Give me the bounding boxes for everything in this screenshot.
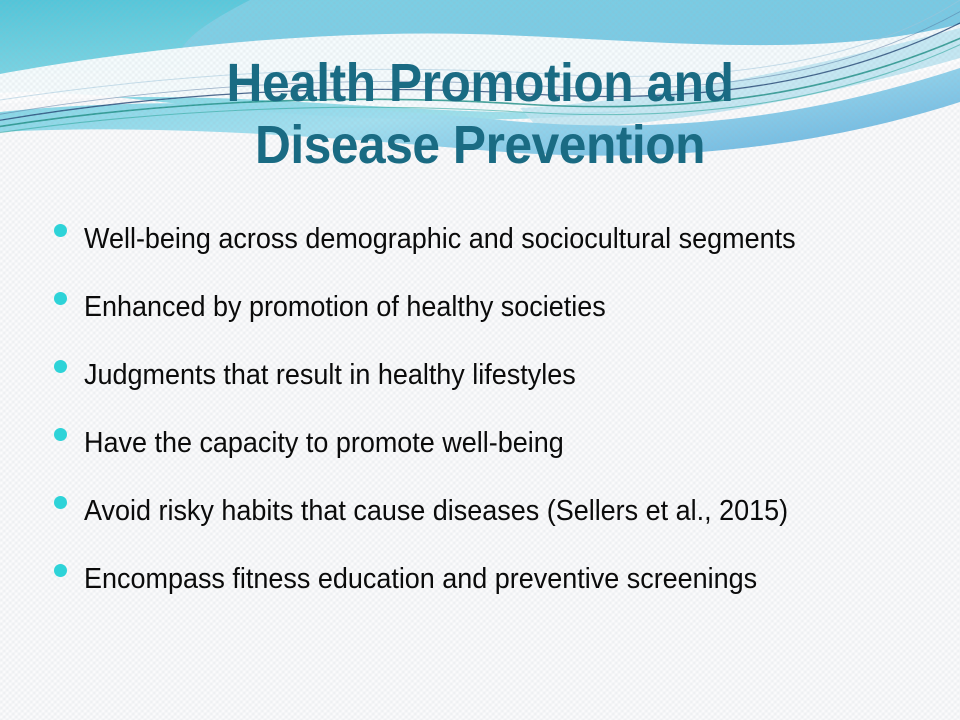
list-item-label: Well-being across demographic and socioc… [84,213,875,265]
bullet-dot-icon [54,564,67,577]
list-item-label: Avoid risky habits that cause diseases (… [84,485,875,537]
list-item-label: Judgments that result in healthy lifesty… [84,349,875,401]
list-item[interactable]: Have the capacity to promote well-being [54,417,934,469]
page-title: Health Promotion and Disease Prevention [38,52,921,176]
list-item[interactable]: Enhanced by promotion of healthy societi… [54,281,934,333]
bullet-dot-icon [54,224,67,237]
bullet-list: Well-being across demographic and socioc… [54,213,934,621]
slide-content: Health Promotion and Disease Prevention … [0,0,960,720]
bullet-dot-icon [54,496,67,509]
list-item[interactable]: Avoid risky habits that cause diseases (… [54,485,934,537]
list-item[interactable]: Encompass fitness education and preventi… [54,553,934,605]
bullet-dot-icon [54,428,67,441]
list-item-label: Encompass fitness education and preventi… [84,553,875,605]
list-item[interactable]: Judgments that result in healthy lifesty… [54,349,934,401]
bullet-dot-icon [54,292,67,305]
slide: Health Promotion and Disease Prevention … [0,0,960,720]
list-item-label: Have the capacity to promote well-being [84,417,875,469]
bullet-dot-icon [54,360,67,373]
list-item-label: Enhanced by promotion of healthy societi… [84,281,875,333]
list-item[interactable]: Well-being across demographic and socioc… [54,213,934,265]
